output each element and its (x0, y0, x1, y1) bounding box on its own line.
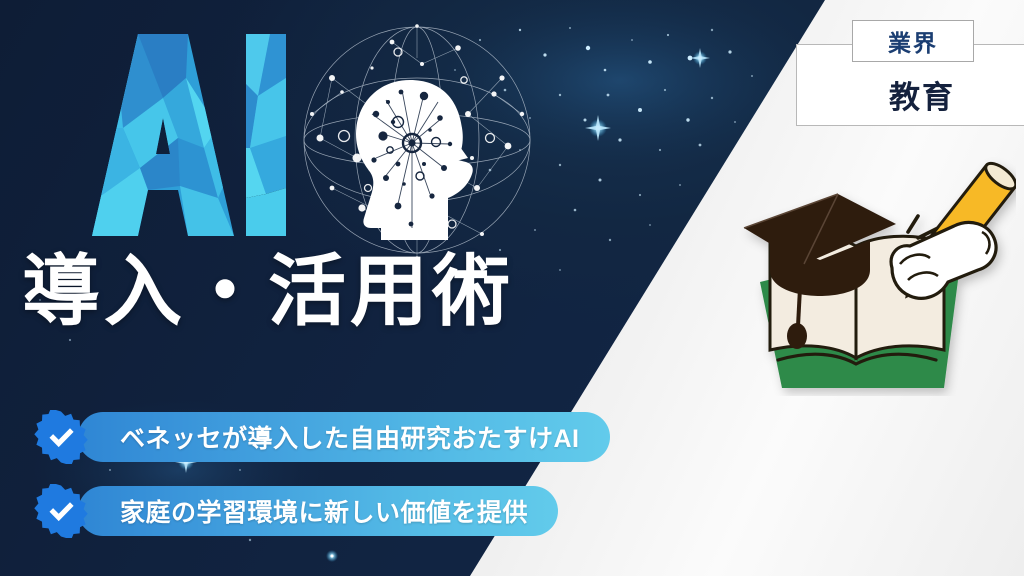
bullet-list: ベネッセが導入した自由研究おたすけAI 家庭の学習環境に新しい価値を提供 (34, 412, 754, 560)
bullet-pill: ベネッセが導入した自由研究おたすけAI (78, 412, 610, 462)
industry-value: 教育 (797, 72, 1024, 117)
graduation-cap-book-pencil-icon (686, 146, 1016, 396)
industry-label: 業界 (888, 24, 938, 58)
list-item: 家庭の学習環境に新しい価値を提供 (34, 486, 754, 536)
bullet-label: 家庭の学習環境に新しい価値を提供 (120, 493, 528, 529)
page-title: 導入・活用術 (22, 252, 514, 330)
check-badge-icon (34, 484, 88, 538)
ai-head-network-icon (272, 18, 562, 268)
bullet-pill: 家庭の学習環境に新しい価値を提供 (78, 486, 558, 536)
check-badge-icon (34, 410, 88, 464)
list-item: ベネッセが導入した自由研究おたすけAI (34, 412, 754, 462)
bullet-label: ベネッセが導入した自由研究おたすけAI (120, 419, 580, 455)
industry-label-box: 業界 (852, 20, 974, 62)
poster-canvas: 導入・活用術 ベネッセが導入した自由研究おたすけAI 家庭の学習環境に新しい価値… (0, 0, 1024, 576)
